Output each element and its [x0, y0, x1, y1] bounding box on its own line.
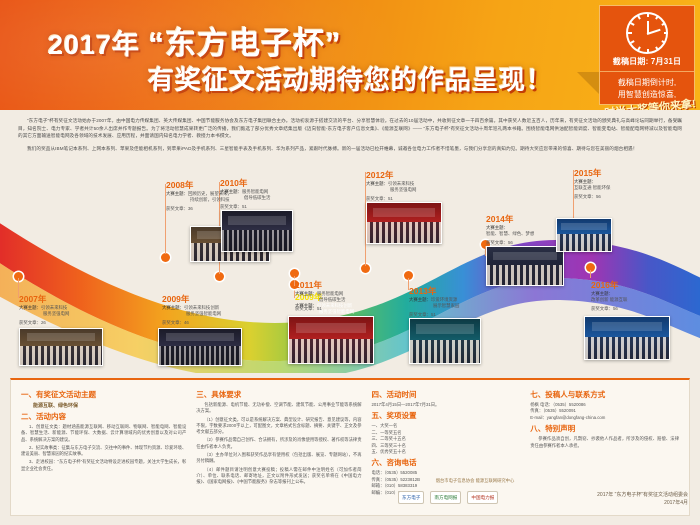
timeline-photo-2013	[409, 318, 481, 364]
theme-line1: 引领未来科技	[388, 181, 414, 186]
theme-line1: 互联互通 智能环保	[574, 185, 682, 191]
timeline-theme: 大赛主题：引领未来科技 服务坚强电网	[366, 181, 474, 194]
timeline-photo-2012	[366, 202, 442, 244]
sponsor-note: 烟台市电子信息协会 能源互联网研究中心	[400, 478, 550, 484]
timeline-entry-2012: 2012年 大赛主题：引领未来科技 服务坚强电网 获奖文章：51	[366, 170, 474, 202]
sponsor-logos: 东方电子 南方电网报 中国电力报	[398, 491, 498, 504]
count-label: 获奖文章：	[574, 194, 596, 199]
timeline-theme: 大赛主题：服务智能电网 倡导低碳生活	[220, 189, 328, 202]
timeline-year: 2011年	[295, 280, 403, 291]
poster-header: 2017年 “东方电子杯” 有奖征文活动期待您的作品呈现！	[0, 0, 700, 110]
header-title-main: “东方电子杯”	[149, 26, 342, 61]
theme-line2: 服务坚强电网	[366, 187, 474, 193]
timeline-entry-2011: 2011年 大赛主题：服务智能电网 倡导低碳生活 获奖文章：51	[295, 280, 403, 312]
theme-line1: 改革创新 能源互联	[591, 297, 699, 303]
timeline-theme: 大赛主题：引领未来科技 服务坚强电网	[19, 305, 127, 318]
timeline-year: 2015年	[574, 168, 682, 179]
count-value: 46	[184, 320, 189, 325]
poster-footer: 烟台市电子信息协会 能源互联网研究中心 东方电子 南方电网报 中国电力报 201…	[10, 478, 690, 518]
timeline-theme: 大赛主题：服务智能电网 倡导低碳生活	[295, 291, 403, 304]
prize-item-5: 五、优秀奖五十名	[372, 449, 521, 455]
timeline-entry-2015: 2015年 大赛主题： 互联互通 智能环保 获奖文章：56	[574, 168, 682, 200]
timeline-entry-2016: 2016年 大赛主题： 改革创新 能源互联 获奖文章：56	[591, 280, 699, 312]
count-label: 获奖文章：	[220, 204, 242, 209]
rule-text-2-1: （1）创意征文类，可以是系统解决方案、典型设计、研究报告、意见建议等，内容不限，…	[196, 417, 361, 436]
section-heading-8: 八、特别声明	[530, 423, 679, 434]
timeline-photo-2009	[158, 328, 242, 366]
header-title-line: 2017年 “东方电子杯”	[48, 18, 342, 63]
section-heading-4: 四、活动时间	[372, 389, 521, 400]
intro-paragraph-2: 我们的奖品从IBM笔记本系列、上网本系列、苹果及佳能相机系列，到苹果iPAD及手…	[18, 145, 682, 153]
timeline-node-2008	[161, 253, 170, 262]
rule-text-1-2: 2、纪实故事类：征集与东方电子交流、交往中的事件、体现节约资源、珍爱环境、建设美…	[21, 445, 186, 458]
count-label: 获奖文章：	[409, 312, 431, 317]
intro-text: “东方电子”杯有奖征文活动始办于2007年，由中国电力传媒集团、英大传媒集团、中…	[18, 117, 682, 157]
theme-line1: 引领未来科技	[41, 305, 67, 310]
timeline-photo-2016	[584, 316, 670, 360]
theme-line1: 珍爱环境资源	[431, 297, 457, 302]
timeline-entry-2009-alt: 2009年 大赛主题：引领未来科技创新 服务坚强智能电网 获奖文章：46	[162, 294, 270, 326]
timeline-stem-2016	[590, 270, 591, 278]
badge-sub-line1: 截稿日期倒计时,	[600, 77, 694, 89]
theme-label: 大赛主题：	[574, 179, 596, 184]
activity-period-text: 2017年4月15日—2017年7月31日。	[372, 402, 521, 408]
rule-text-2-2: （2）参赛作品需自己创作、合法拥有，所涉及的肖像使用等授权、著作权等法律责任由作…	[196, 437, 361, 450]
timeline-count: 获奖文章：56	[574, 194, 682, 200]
theme-label: 大赛主题：	[166, 191, 188, 196]
timeline-year: 2007年	[19, 294, 127, 305]
theme-label: 大赛主题：	[366, 181, 388, 186]
intro-paragraph-1: “东方电子”杯有奖征文活动始办于2007年，由中国电力传媒集团、英大传媒集团、中…	[18, 117, 682, 140]
logo-dongfang: 东方电子	[398, 491, 424, 504]
count-label: 获奖文章：	[19, 320, 41, 325]
theme-label: 大赛主题：	[486, 225, 508, 230]
rule-text-1-3: 3、走进校园：“东方电子杯”有奖征文活动特设走进校园专题，关注大学生成长，彰显企…	[21, 459, 186, 472]
section-heading-6: 六、咨询电话	[372, 457, 521, 468]
header-subtitle: 有奖征文活动期待您的作品呈现！	[148, 60, 553, 97]
timeline-count: 获奖文章：51	[295, 306, 403, 312]
timeline-year: 2009年	[162, 294, 270, 305]
theme-label: 大赛主题：	[162, 305, 184, 310]
rule-text-1-1: 1、创意征文类：题材涵盖能源互联网、移动互联网、物联网、智能电网、智能设备、智慧…	[21, 424, 186, 443]
disclaimer-text: 参赛作品须自创，凡剽窃、抄袭他人作品者，所涉及的侵权、赔偿、法律责任由参赛作者本…	[530, 436, 679, 449]
timeline-photo-2014	[486, 246, 564, 286]
count-value: 56	[613, 306, 618, 311]
count-value: 51	[242, 204, 247, 209]
timeline-theme: 大赛主题： 改革创新 能源互联	[591, 291, 699, 304]
timeline-year: 2010年	[220, 178, 328, 189]
theme-line2: 倡导低碳生活	[295, 297, 403, 303]
logo-nanfang: 南方电网报	[430, 491, 461, 504]
count-label: 获奖文章：	[295, 306, 317, 311]
theme-label: 大赛主题：	[409, 297, 431, 302]
section-subtitle-theme: 能源互联、绿色环保	[21, 402, 186, 409]
submitter-email: E-mail：yangfan@dongfang-china.com	[530, 415, 679, 421]
count-value: 56	[596, 194, 601, 199]
theme-line2: 倡导低碳生活	[220, 195, 328, 201]
theme-line2: 服务坚强智能电网	[162, 311, 270, 317]
timeline-theme: 大赛主题：引领未来科技创新 服务坚强智能电网	[162, 305, 270, 318]
count-label: 获奖文章：	[166, 206, 188, 211]
badge-deadline-text: 截稿日期: 7月31日	[600, 56, 694, 72]
theme-line1: 服务智能电网	[317, 291, 343, 296]
timeline-year: 2016年	[591, 280, 699, 291]
organizer-date: 2017年4月	[597, 500, 688, 508]
count-value: 36	[188, 206, 193, 211]
timeline-photo-2011	[288, 316, 374, 364]
history-timeline: 2008年 大赛主题：回顾历史，展望未来， 持续创新，引领科技 获奖文章：36 …	[0, 168, 700, 373]
theme-label: 大赛主题：	[220, 189, 242, 194]
count-label: 获奖文章：	[366, 196, 388, 201]
timeline-theme: 大赛主题：珍爱环境资源 展示智慧家园	[409, 297, 517, 310]
organizer-block: 2017年 “东方电子杯”有奖征文活动组委会 2017年4月	[597, 492, 688, 507]
theme-label: 大赛主题：	[295, 291, 317, 296]
count-value: 26	[41, 320, 46, 325]
count-label: 获奖文章：	[162, 320, 184, 325]
theme-line2: 展示智慧家园	[409, 303, 517, 309]
timeline-count: 获奖文章：56	[591, 306, 699, 312]
count-value: 51	[317, 306, 322, 311]
timeline-count: 获奖文章：46	[162, 320, 270, 326]
theme-label: 大赛主题：	[591, 291, 613, 296]
theme-label: 大赛主题：	[19, 305, 41, 310]
rule-text-2-0: 包括新能源、电机节能、无功补偿、空调节能、建筑节能、公用事业节能等系统解决方案。	[196, 402, 361, 415]
rule-text-2-3: （3）主办单位对入围和获奖作品享有使用权（包括出版、展览、专题网站），不再另付稿…	[196, 452, 361, 465]
section-heading-5: 五、奖项设置	[372, 410, 521, 421]
timeline-photo-2010	[221, 210, 293, 252]
timeline-year: 2013年	[409, 286, 517, 297]
timeline-entry-2007: 2007年 大赛主题：引领未来科技 服务坚强电网 获奖文章：26	[19, 294, 127, 326]
timeline-entry-2010: 2010年 大赛主题：服务智能电网 倡导低碳生活 获奖文章：51	[220, 178, 328, 210]
section-heading-1: 一、有奖征文活动主题	[21, 389, 186, 400]
deadline-badge: 截稿日期: 7月31日 截稿日期倒计时, 用智慧创造惊喜, 时尚大奖等你来拿!	[599, 5, 695, 105]
timeline-photo-2015	[556, 218, 612, 252]
count-value: 51	[431, 312, 436, 317]
timeline-entry-2013: 2013年 大赛主题：珍爱环境资源 展示智慧家园 获奖文章：51	[409, 286, 517, 318]
count-label: 获奖文章：	[591, 306, 613, 311]
header-year: 2017年	[48, 30, 140, 60]
timeline-photo-2007	[19, 328, 103, 366]
header-fold-decoration	[577, 72, 599, 94]
theme-line1: 引领未来科技创新	[184, 305, 219, 310]
clock-icon	[626, 12, 668, 54]
organizer-name: 2017年 “东方电子杯”有奖征文活动组委会	[597, 492, 688, 500]
timeline-year: 2012年	[366, 170, 474, 181]
section-heading-7: 七、投稿人与联系方式	[530, 389, 679, 400]
theme-line1: 服务智能电网	[242, 189, 268, 194]
logo-zhongguo: 中国电力报	[467, 491, 498, 504]
count-label: 获奖文章：	[486, 240, 508, 245]
theme-line2: 服务坚强电网	[19, 311, 127, 317]
section-heading-2: 二、活动内容	[21, 411, 186, 422]
timeline-count: 获奖文章：26	[19, 320, 127, 326]
count-value: 51	[388, 196, 393, 201]
section-heading-3: 三、具体要求	[196, 389, 361, 400]
timeline-theme: 大赛主题： 互联互通 智能环保	[574, 179, 682, 192]
poster: 2017年 “东方电子杯” 有奖征文活动期待您的作品呈现！	[0, 0, 700, 525]
count-value: 56	[508, 240, 513, 245]
